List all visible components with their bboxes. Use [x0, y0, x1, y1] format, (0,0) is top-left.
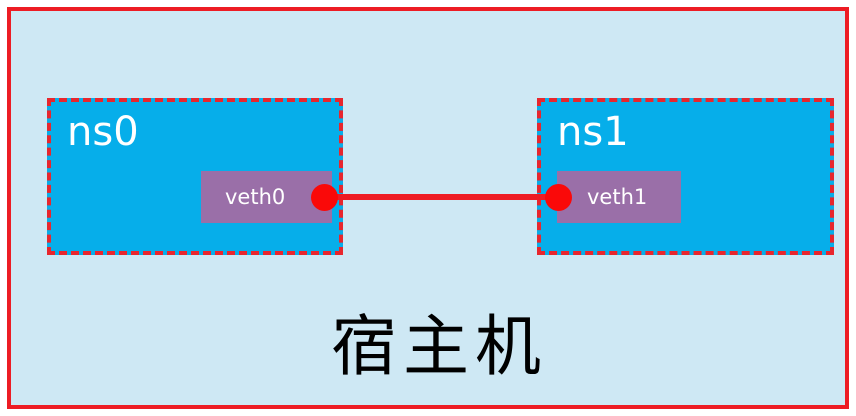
namespace-label-ns0: ns0 — [67, 110, 139, 154]
interface-label-veth1: veth1 — [587, 187, 647, 208]
interface-label-veth0: veth0 — [225, 187, 285, 208]
veth-pair-link-line — [319, 194, 563, 200]
namespace-label-ns1: ns1 — [557, 110, 629, 154]
veth-endpoint-dot-veth0 — [311, 184, 338, 211]
host-machine-container: ns0 ns1 veth0 veth1 宿主机 — [7, 7, 849, 409]
veth-endpoint-dot-veth1 — [545, 184, 572, 211]
interface-box-veth1: veth1 — [557, 171, 681, 223]
diagram-canvas: ns0 ns1 veth0 veth1 宿主机 — [0, 0, 856, 416]
host-machine-caption: 宿主机 — [11, 307, 856, 387]
